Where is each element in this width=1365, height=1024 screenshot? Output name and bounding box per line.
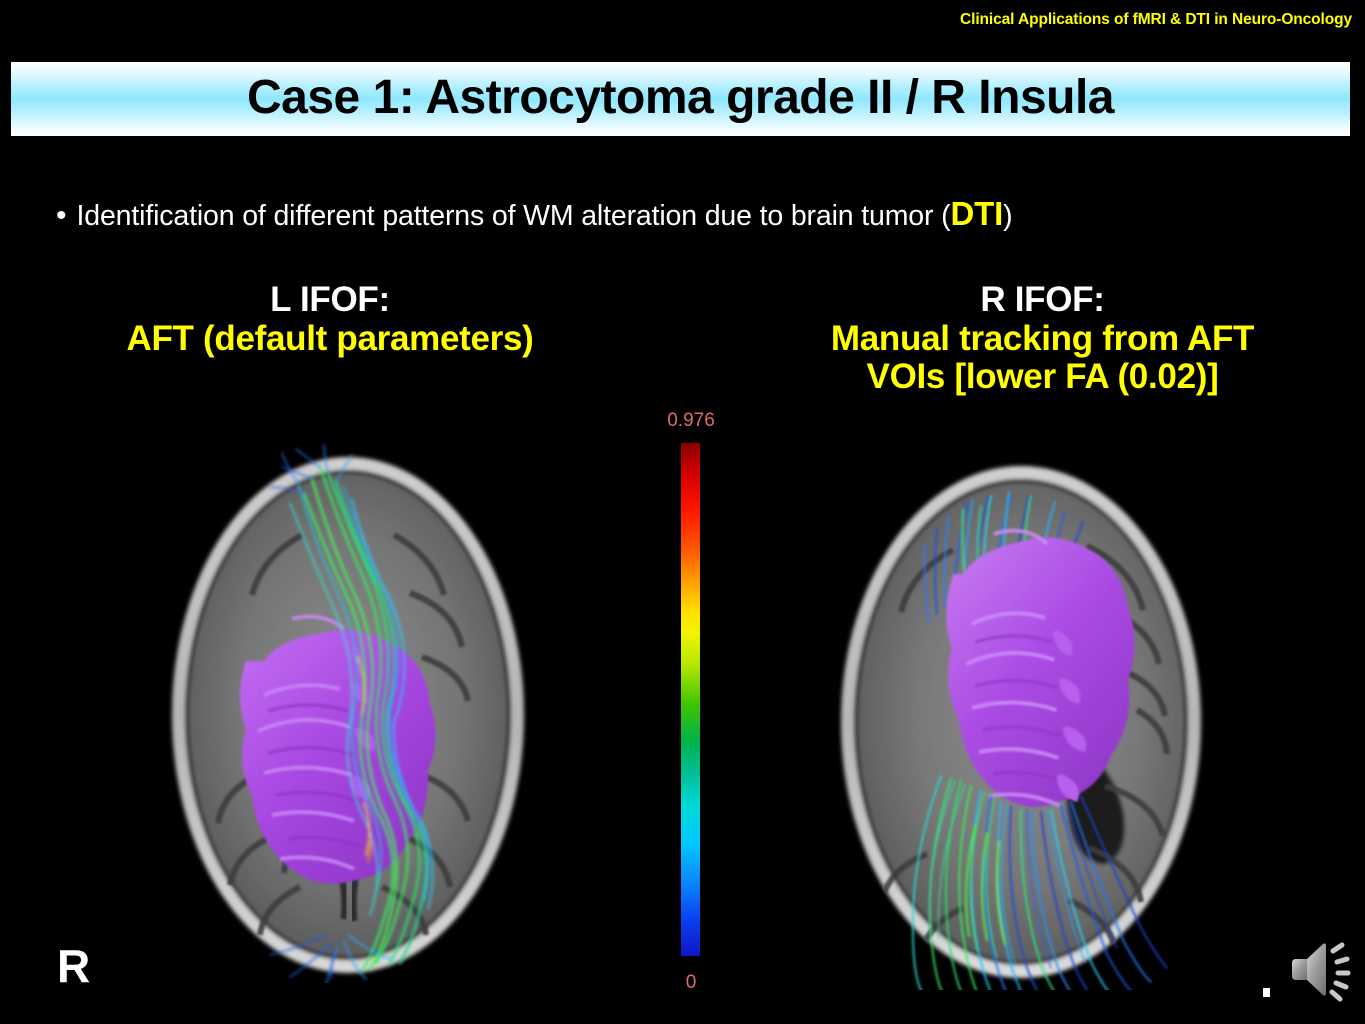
right-brain-render [803,450,1233,990]
title-banner: Case 1: Astrocytoma grade II / R Insula [9,57,1354,141]
right-caption-subtitle-line1: Manual tracking from AFT [720,320,1365,359]
bullet-text-before: Identification of different patterns of … [77,200,951,232]
fa-colorbar: 0.976 0 [660,410,722,1010]
speaker-waves-icon [1332,945,1348,999]
page-title: Case 1: Astrocytoma grade II / R Insula [247,70,1114,125]
bullet-text: Identification of different patterns of … [77,196,1013,232]
left-panel-caption: L IFOF: AFT (default parameters) [0,281,660,358]
right-caption-title: R IFOF: [720,281,1365,320]
speaker-icon[interactable] [1268,933,1353,1005]
left-caption-subtitle: AFT (default parameters) [0,320,660,359]
colorbar-min-label: 0 [660,972,722,994]
bullet-highlight-dti: DTI [950,195,1003,232]
colorbar-max-label: 0.976 [660,410,722,432]
bullet-marker-icon: • [56,201,67,231]
right-brain-image [803,450,1233,990]
bullet-text-after: ) [1003,200,1012,232]
right-caption-subtitle-line2: VOIs [lower FA (0.02)] [720,358,1365,397]
left-brain-render [142,443,554,983]
slide-marker-dot [1263,988,1270,997]
right-tumor-mass [946,531,1134,807]
orientation-marker-right: R [57,943,90,989]
bullet-row: • Identification of different patterns o… [56,196,1346,232]
left-caption-title: L IFOF: [0,281,660,320]
right-panel-caption: R IFOF: Manual tracking from AFT VOIs [l… [720,281,1365,397]
speaker-body [1292,943,1326,995]
colorbar-gradient [681,443,700,956]
left-brain-image [142,443,554,983]
running-header: Clinical Applications of fMRI & DTI in N… [960,11,1352,29]
